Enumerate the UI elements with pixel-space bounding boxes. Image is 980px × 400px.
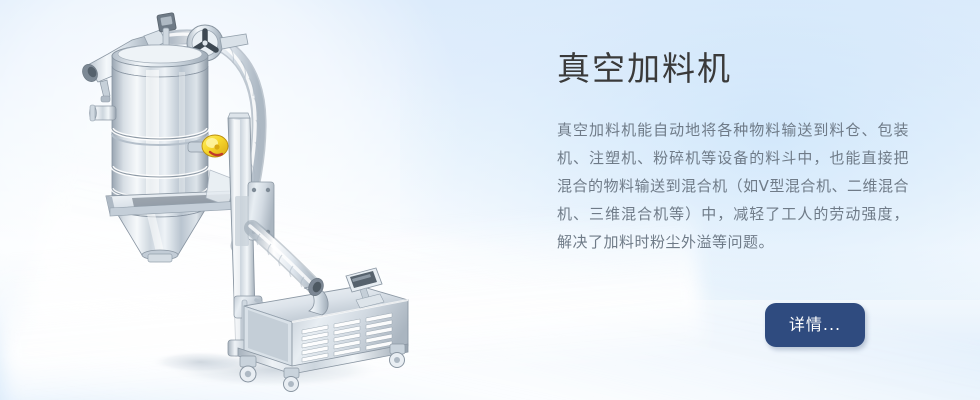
caster-wheels	[240, 344, 405, 392]
control-display	[346, 268, 384, 308]
transparent-suction-hose-lower	[250, 226, 314, 287]
detail-button[interactable]: 详情...	[765, 303, 865, 347]
background-glow-left	[0, 0, 460, 380]
hopper-clamp-rings	[112, 128, 208, 199]
top-vent-fan	[187, 25, 223, 61]
wheeled-cart-cabinet	[238, 268, 408, 392]
hopper-cone	[112, 205, 208, 262]
yellow-handle-valve	[188, 135, 228, 157]
louvered-cabinet-panel	[302, 313, 392, 362]
support-bracket-tray	[106, 170, 260, 216]
cta-button-row: 详情...	[765, 303, 865, 347]
ground-shadow-cart	[165, 352, 385, 388]
banner-text-content: 真空加料机 真空加料机能自动地将各种物料输送到料仓、包装机、注塑机、粉碎机等设备…	[557, 48, 957, 256]
product-banner: 真空加料机 真空加料机能自动地将各种物料输送到料仓、包装机、注塑机、粉碎机等设备…	[0, 0, 980, 400]
top-lid-valve-assembly	[80, 13, 248, 102]
page-title: 真空加料机	[557, 48, 957, 90]
vertical-support-column	[228, 113, 274, 356]
product-description: 真空加料机能自动地将各种物料输送到料仓、包装机、注塑机、粉碎机等设备的料斗中，也…	[557, 116, 909, 256]
ground-shadow-column	[150, 351, 250, 373]
cabinet-inlet-elbow	[304, 276, 328, 315]
vacuum-feeder-machine-image	[60, 0, 420, 400]
hopper-cylinder	[90, 45, 228, 262]
transparent-suction-hose-upper	[170, 30, 261, 246]
hopper-side-nozzle	[90, 105, 116, 121]
